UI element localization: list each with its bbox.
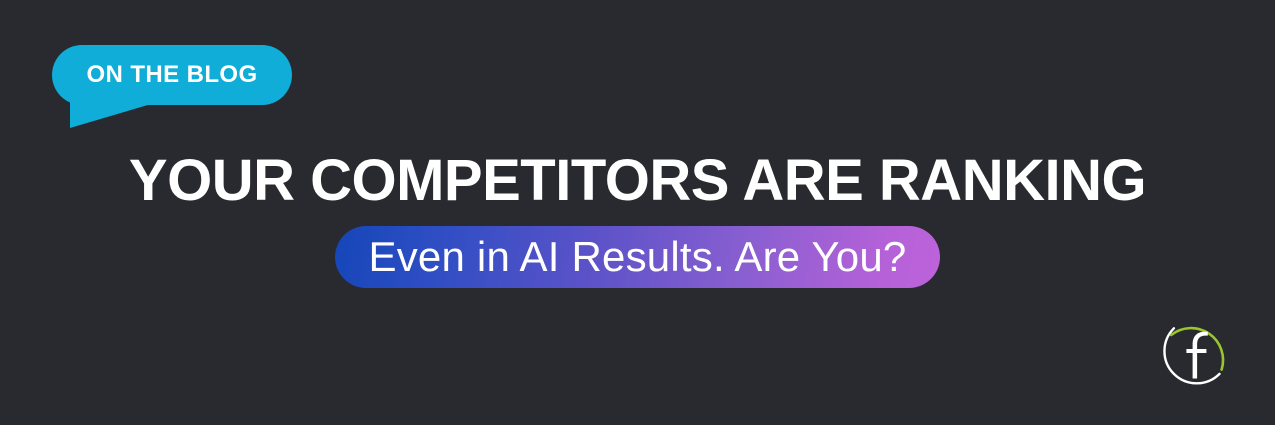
subtitle-label: Even in AI Results. Are You?	[369, 236, 907, 278]
on-the-blog-badge[interactable]: ON THE BLOG	[52, 45, 292, 130]
speech-bubble-tail-icon	[70, 102, 158, 128]
speech-bubble-body: ON THE BLOG	[52, 45, 292, 105]
badge-label: ON THE BLOG	[86, 63, 257, 87]
logo-letter-f-icon	[1186, 332, 1207, 379]
blog-promo-banner: ON THE BLOG YOUR COMPETITORS ARE RANKING…	[0, 0, 1275, 425]
page-title: YOUR COMPETITORS ARE RANKING	[0, 152, 1275, 210]
f-circle-logo	[1157, 312, 1235, 390]
subtitle-pill: Even in AI Results. Are You?	[335, 226, 941, 288]
